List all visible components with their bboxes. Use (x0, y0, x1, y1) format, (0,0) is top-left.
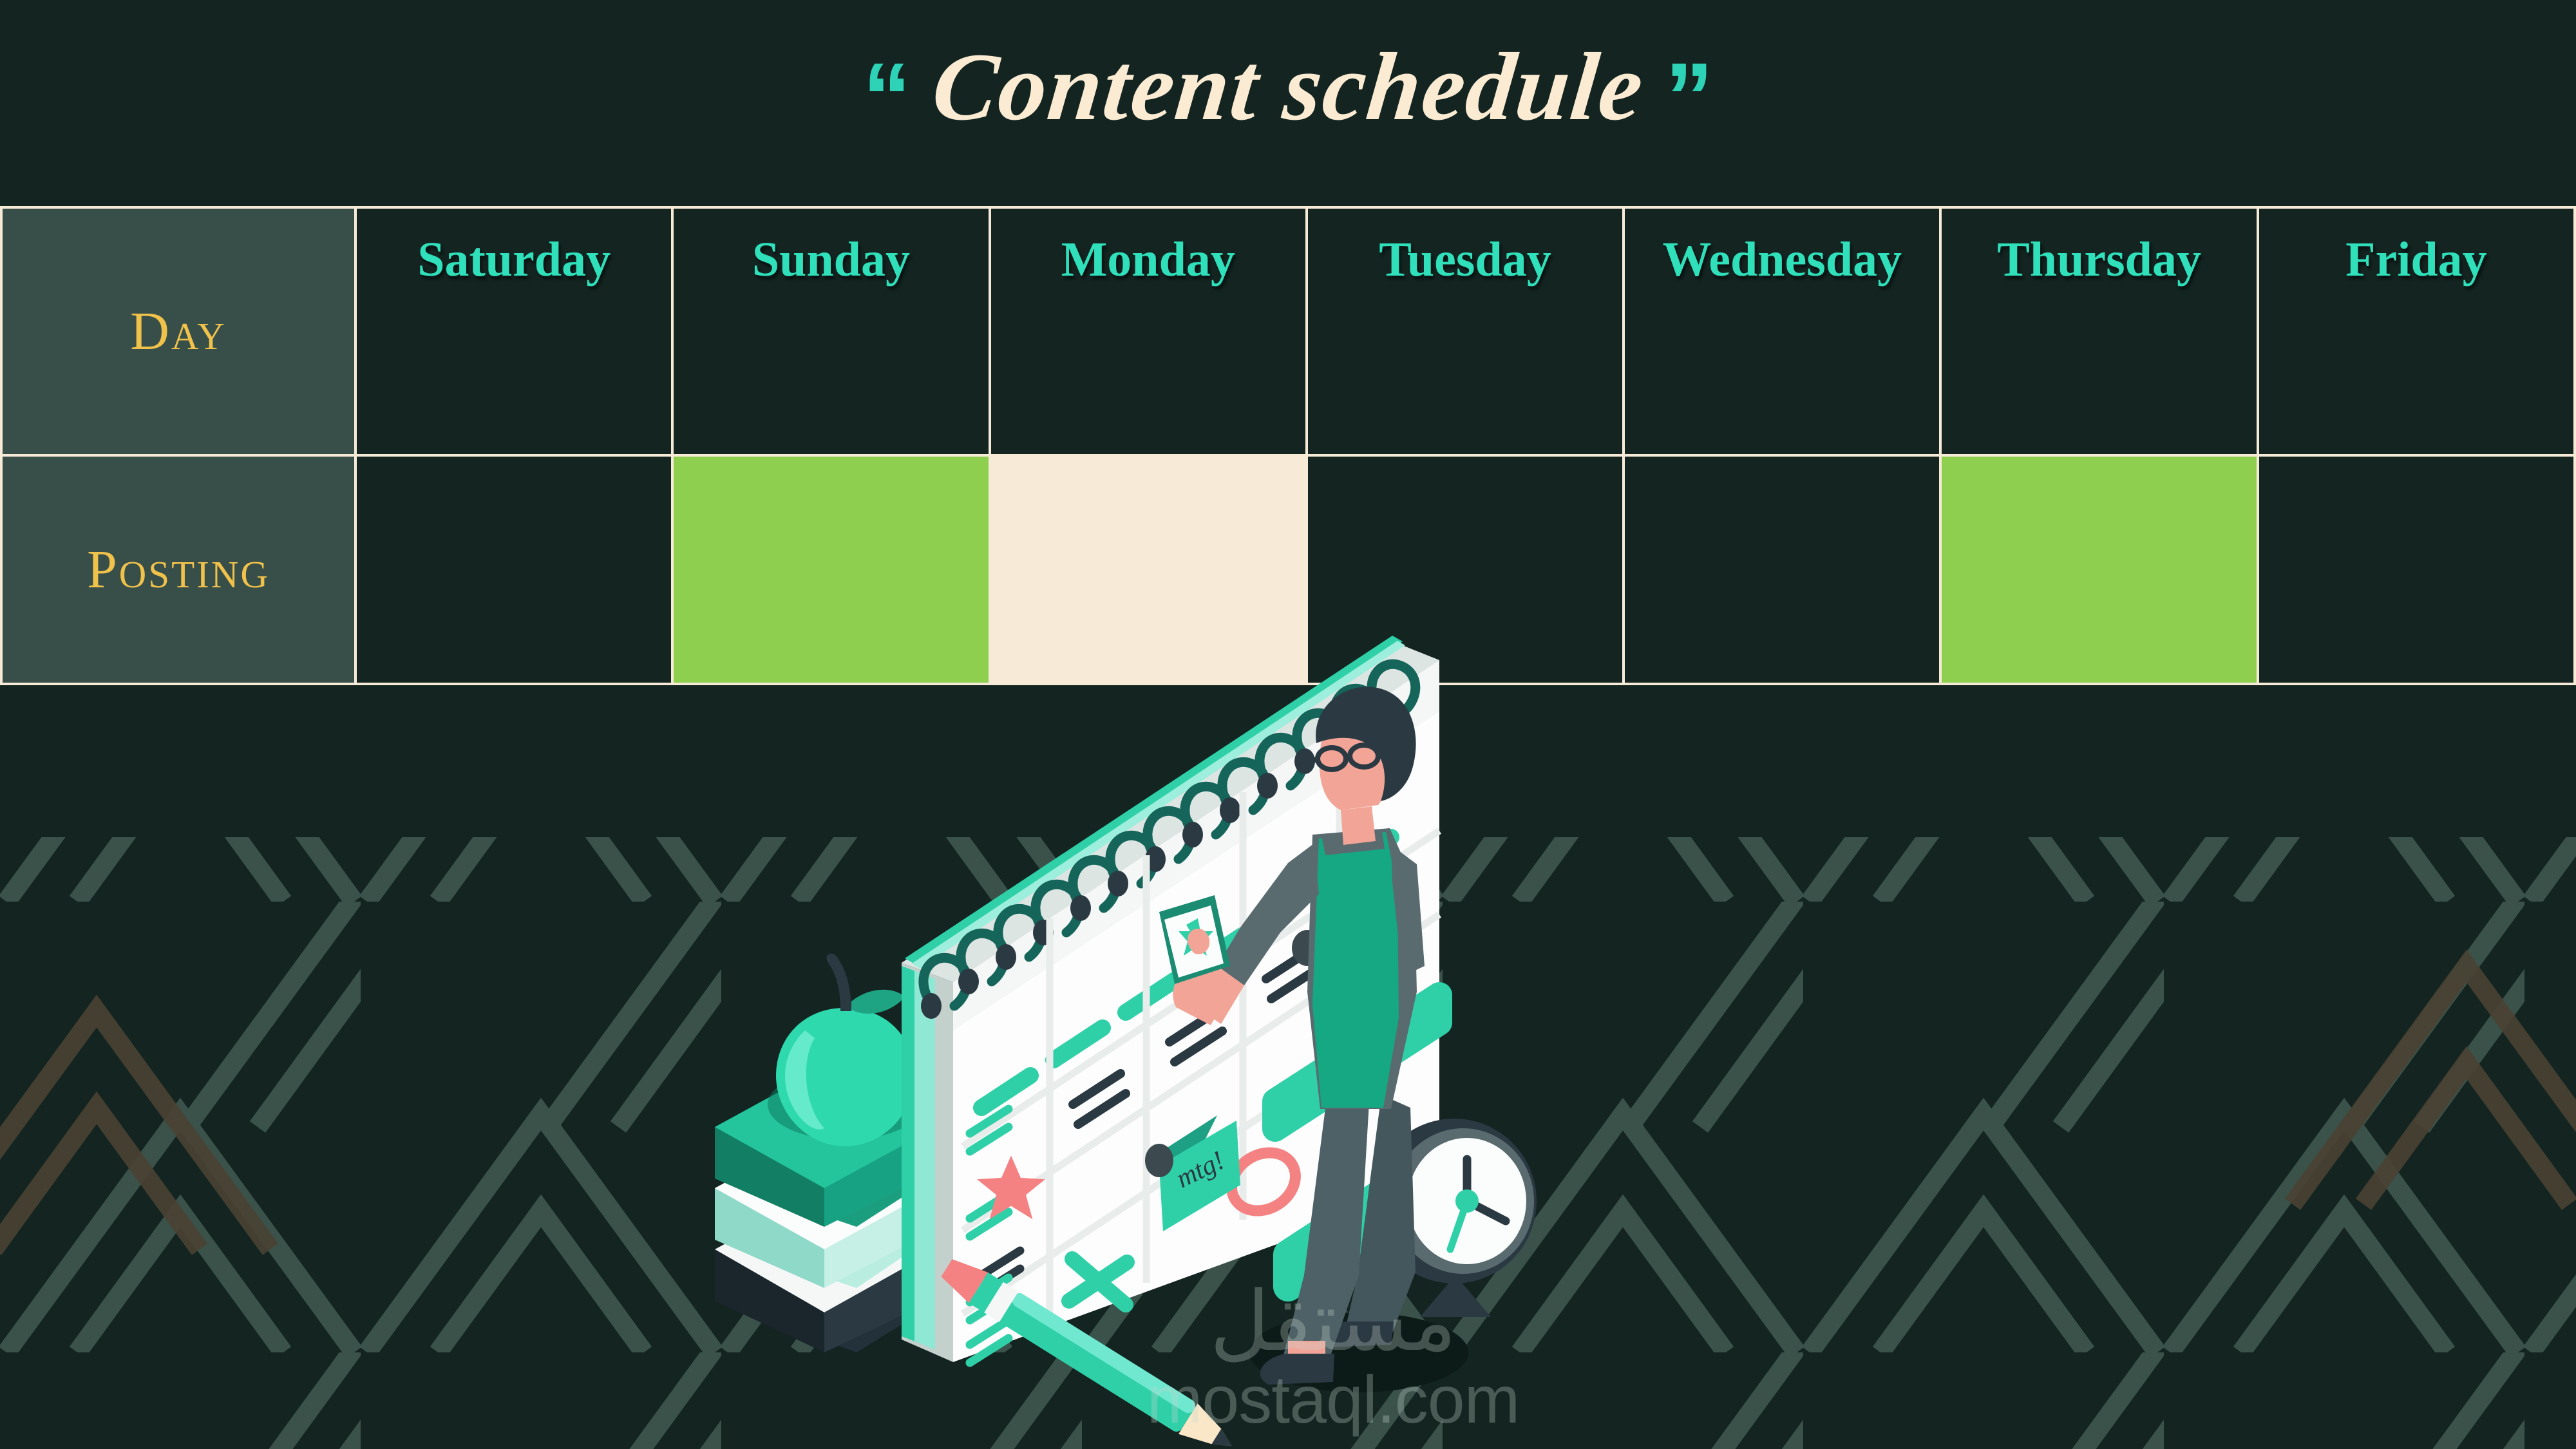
page-title-bar: “ Content schedule ” (0, 0, 2576, 206)
quote-open-icon: “ (863, 48, 911, 145)
day-header-label: Sunday (674, 235, 988, 284)
day-header-monday[interactable]: Monday (990, 207, 1307, 455)
day-header-thursday[interactable]: Thursday (1940, 207, 2257, 455)
posting-cell-thursday[interactable] (1940, 455, 2257, 684)
day-header-wednesday[interactable]: Wednesday (1624, 207, 1940, 455)
row-label-posting: Posting (87, 540, 270, 600)
page-title: Content schedule (927, 37, 1649, 138)
table-row-day: Day Saturday Sunday Monday Tuesday Wedne… (1, 207, 2575, 455)
posting-cell-friday[interactable] (2258, 455, 2575, 684)
day-header-label: Monday (991, 235, 1305, 284)
apple-icon (768, 953, 922, 1146)
day-header-sunday[interactable]: Sunday (672, 207, 989, 455)
row-label-posting-cell: Posting (1, 455, 355, 684)
quote-close-icon: ” (1665, 48, 1713, 145)
day-header-friday[interactable]: Friday (2258, 207, 2575, 455)
row-label-day-cell: Day (1, 207, 355, 455)
day-header-label: Thursday (1942, 235, 2256, 284)
day-header-tuesday[interactable]: Tuesday (1307, 207, 1624, 455)
day-header-label: Friday (2259, 235, 2573, 284)
posting-cell-saturday[interactable] (355, 455, 672, 684)
row-label-day: Day (130, 301, 226, 361)
day-header-label: Tuesday (1308, 235, 1622, 284)
day-header-label: Wednesday (1625, 235, 1939, 284)
day-header-saturday[interactable]: Saturday (355, 207, 672, 455)
calendar-scene-illustration: mtg! Amy 10am (708, 605, 1674, 1449)
day-header-label: Saturday (357, 235, 671, 284)
